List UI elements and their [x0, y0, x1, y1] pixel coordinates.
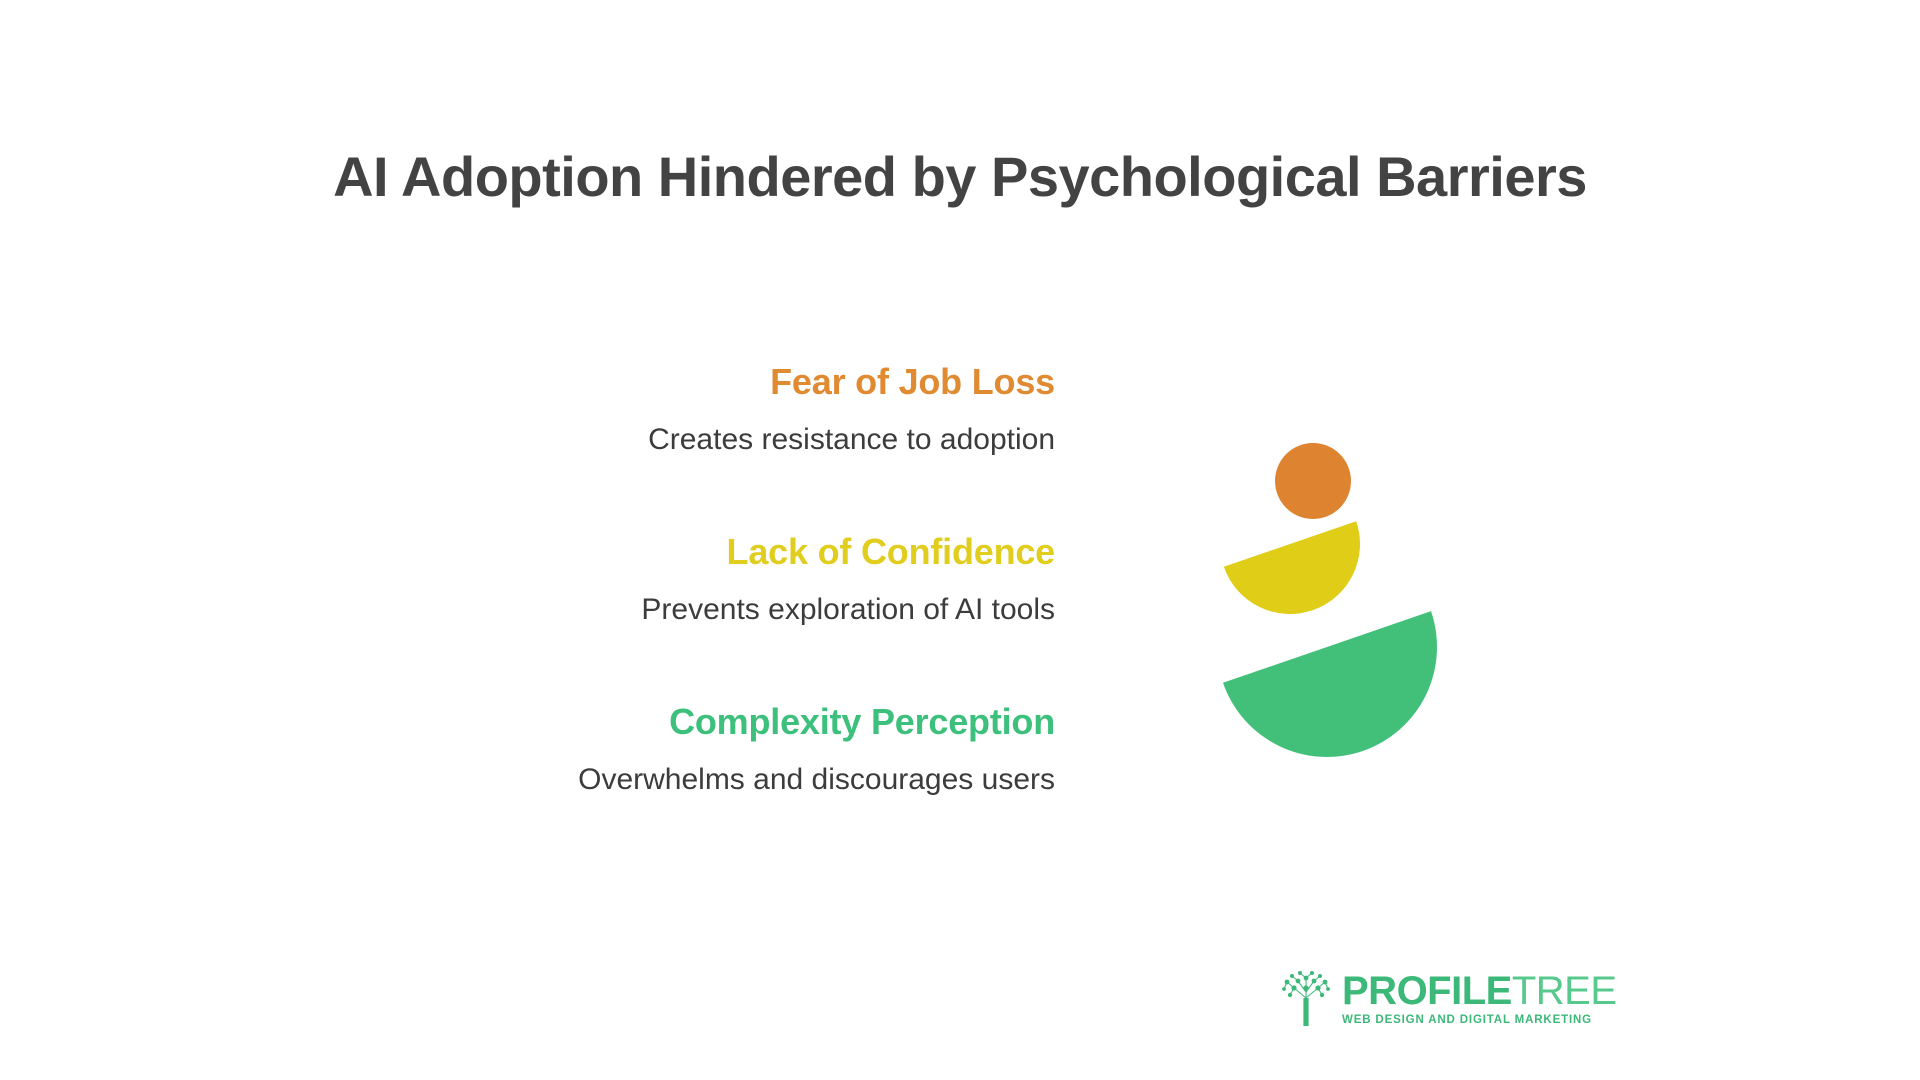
point-heading-lack-of-confidence: Lack of Confidence [420, 530, 1055, 573]
list-item: Lack of Confidence Prevents exploration … [420, 530, 1055, 632]
profiletree-logo: PROFILETREE WEB DESIGN AND DIGITAL MARKE… [1278, 968, 1617, 1030]
point-heading-fear-of-job-loss: Fear of Job Loss [420, 360, 1055, 403]
point-description-fear-of-job-loss: Creates resistance to adoption [420, 419, 1055, 462]
page-title: AI Adoption Hindered by Psychological Ba… [330, 144, 1590, 210]
slide-canvas: AI Adoption Hindered by Psychological Ba… [0, 0, 1920, 1080]
point-description-complexity-perception: Overwhelms and discourages users [420, 759, 1055, 802]
list-item: Fear of Job Loss Creates resistance to a… [420, 360, 1055, 462]
logo-word-tree: TREE [1512, 969, 1617, 1013]
logo-tagline: WEB DESIGN AND DIGITAL MARKETING [1342, 1015, 1617, 1027]
yellow-semicircle-shape [1224, 521, 1379, 633]
logo-text-block: PROFILETREE WEB DESIGN AND DIGITAL MARKE… [1342, 971, 1617, 1027]
list-item: Complexity Perception Overwhelms and dis… [420, 700, 1055, 802]
points-list: Fear of Job Loss Creates resistance to a… [420, 360, 1055, 801]
point-heading-complexity-perception: Complexity Perception [420, 700, 1055, 743]
tree-network-icon [1278, 968, 1334, 1030]
orange-circle-shape [1275, 443, 1351, 519]
point-description-lack-of-confidence: Prevents exploration of AI tools [420, 589, 1055, 632]
logo-wordmark: PROFILETREE [1342, 971, 1617, 1011]
abstract-shapes-figure [1170, 432, 1470, 782]
logo-word-profile: PROFILE [1342, 969, 1512, 1013]
green-semicircle-shape [1223, 611, 1467, 782]
